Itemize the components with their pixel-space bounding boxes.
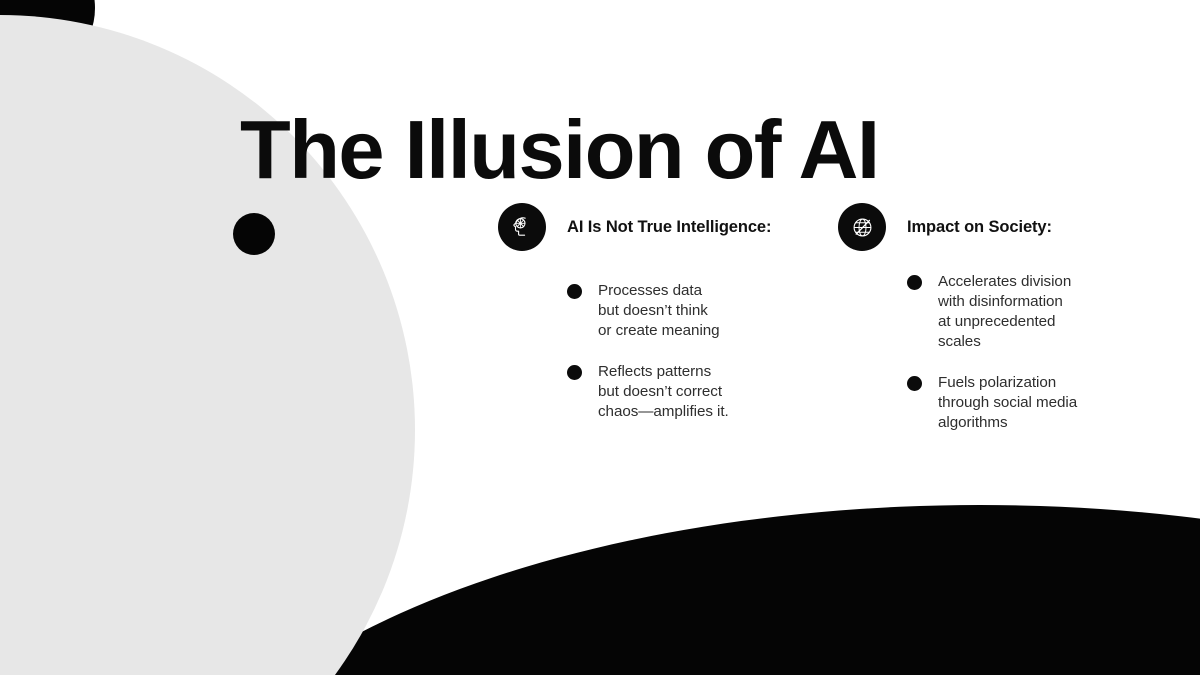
list-item-text: Accelerates division with disinformation…	[938, 272, 1138, 352]
column-heading: AI Is Not True Intelligence:	[567, 203, 788, 238]
list-item: Fuels polarization through social media …	[907, 373, 1138, 433]
list-item-text: Fuels polarization through social media …	[938, 373, 1138, 433]
column-header: AI Is Not True Intelligence:	[498, 203, 788, 253]
presentation-slide: The Illusion of AI AI Is Not True Intell…	[0, 0, 1200, 675]
list-item-text: Reflects patterns but doesn’t correct ch…	[598, 362, 788, 422]
list-item: Processes data but doesn’t think or crea…	[567, 281, 788, 341]
bullet-dot-icon	[567, 284, 582, 299]
column-header: Impact on Society:	[838, 203, 1138, 253]
bullet-list: Accelerates division with disinformation…	[838, 272, 1138, 433]
page-title: The Illusion of AI	[240, 105, 879, 195]
list-item: Accelerates division with disinformation…	[907, 272, 1138, 352]
column-heading: Impact on Society:	[907, 203, 1138, 238]
bullet-list: Processes data but doesn’t think or crea…	[498, 281, 788, 422]
list-item-text: Processes data but doesn’t think or crea…	[598, 281, 788, 341]
content-column-impact-on-society: Impact on Society: Accelerates division …	[838, 203, 1138, 433]
ai-head-brain-icon	[498, 203, 546, 251]
content-column-ai-is-not-true-intelligence: AI Is Not True Intelligence: Processes d…	[498, 203, 788, 422]
bullet-dot-icon	[907, 376, 922, 391]
bullet-dot-icon	[567, 365, 582, 380]
list-item: Reflects patterns but doesn’t correct ch…	[567, 362, 788, 422]
globe-slash-icon	[838, 203, 886, 251]
bullet-dot-icon	[907, 275, 922, 290]
